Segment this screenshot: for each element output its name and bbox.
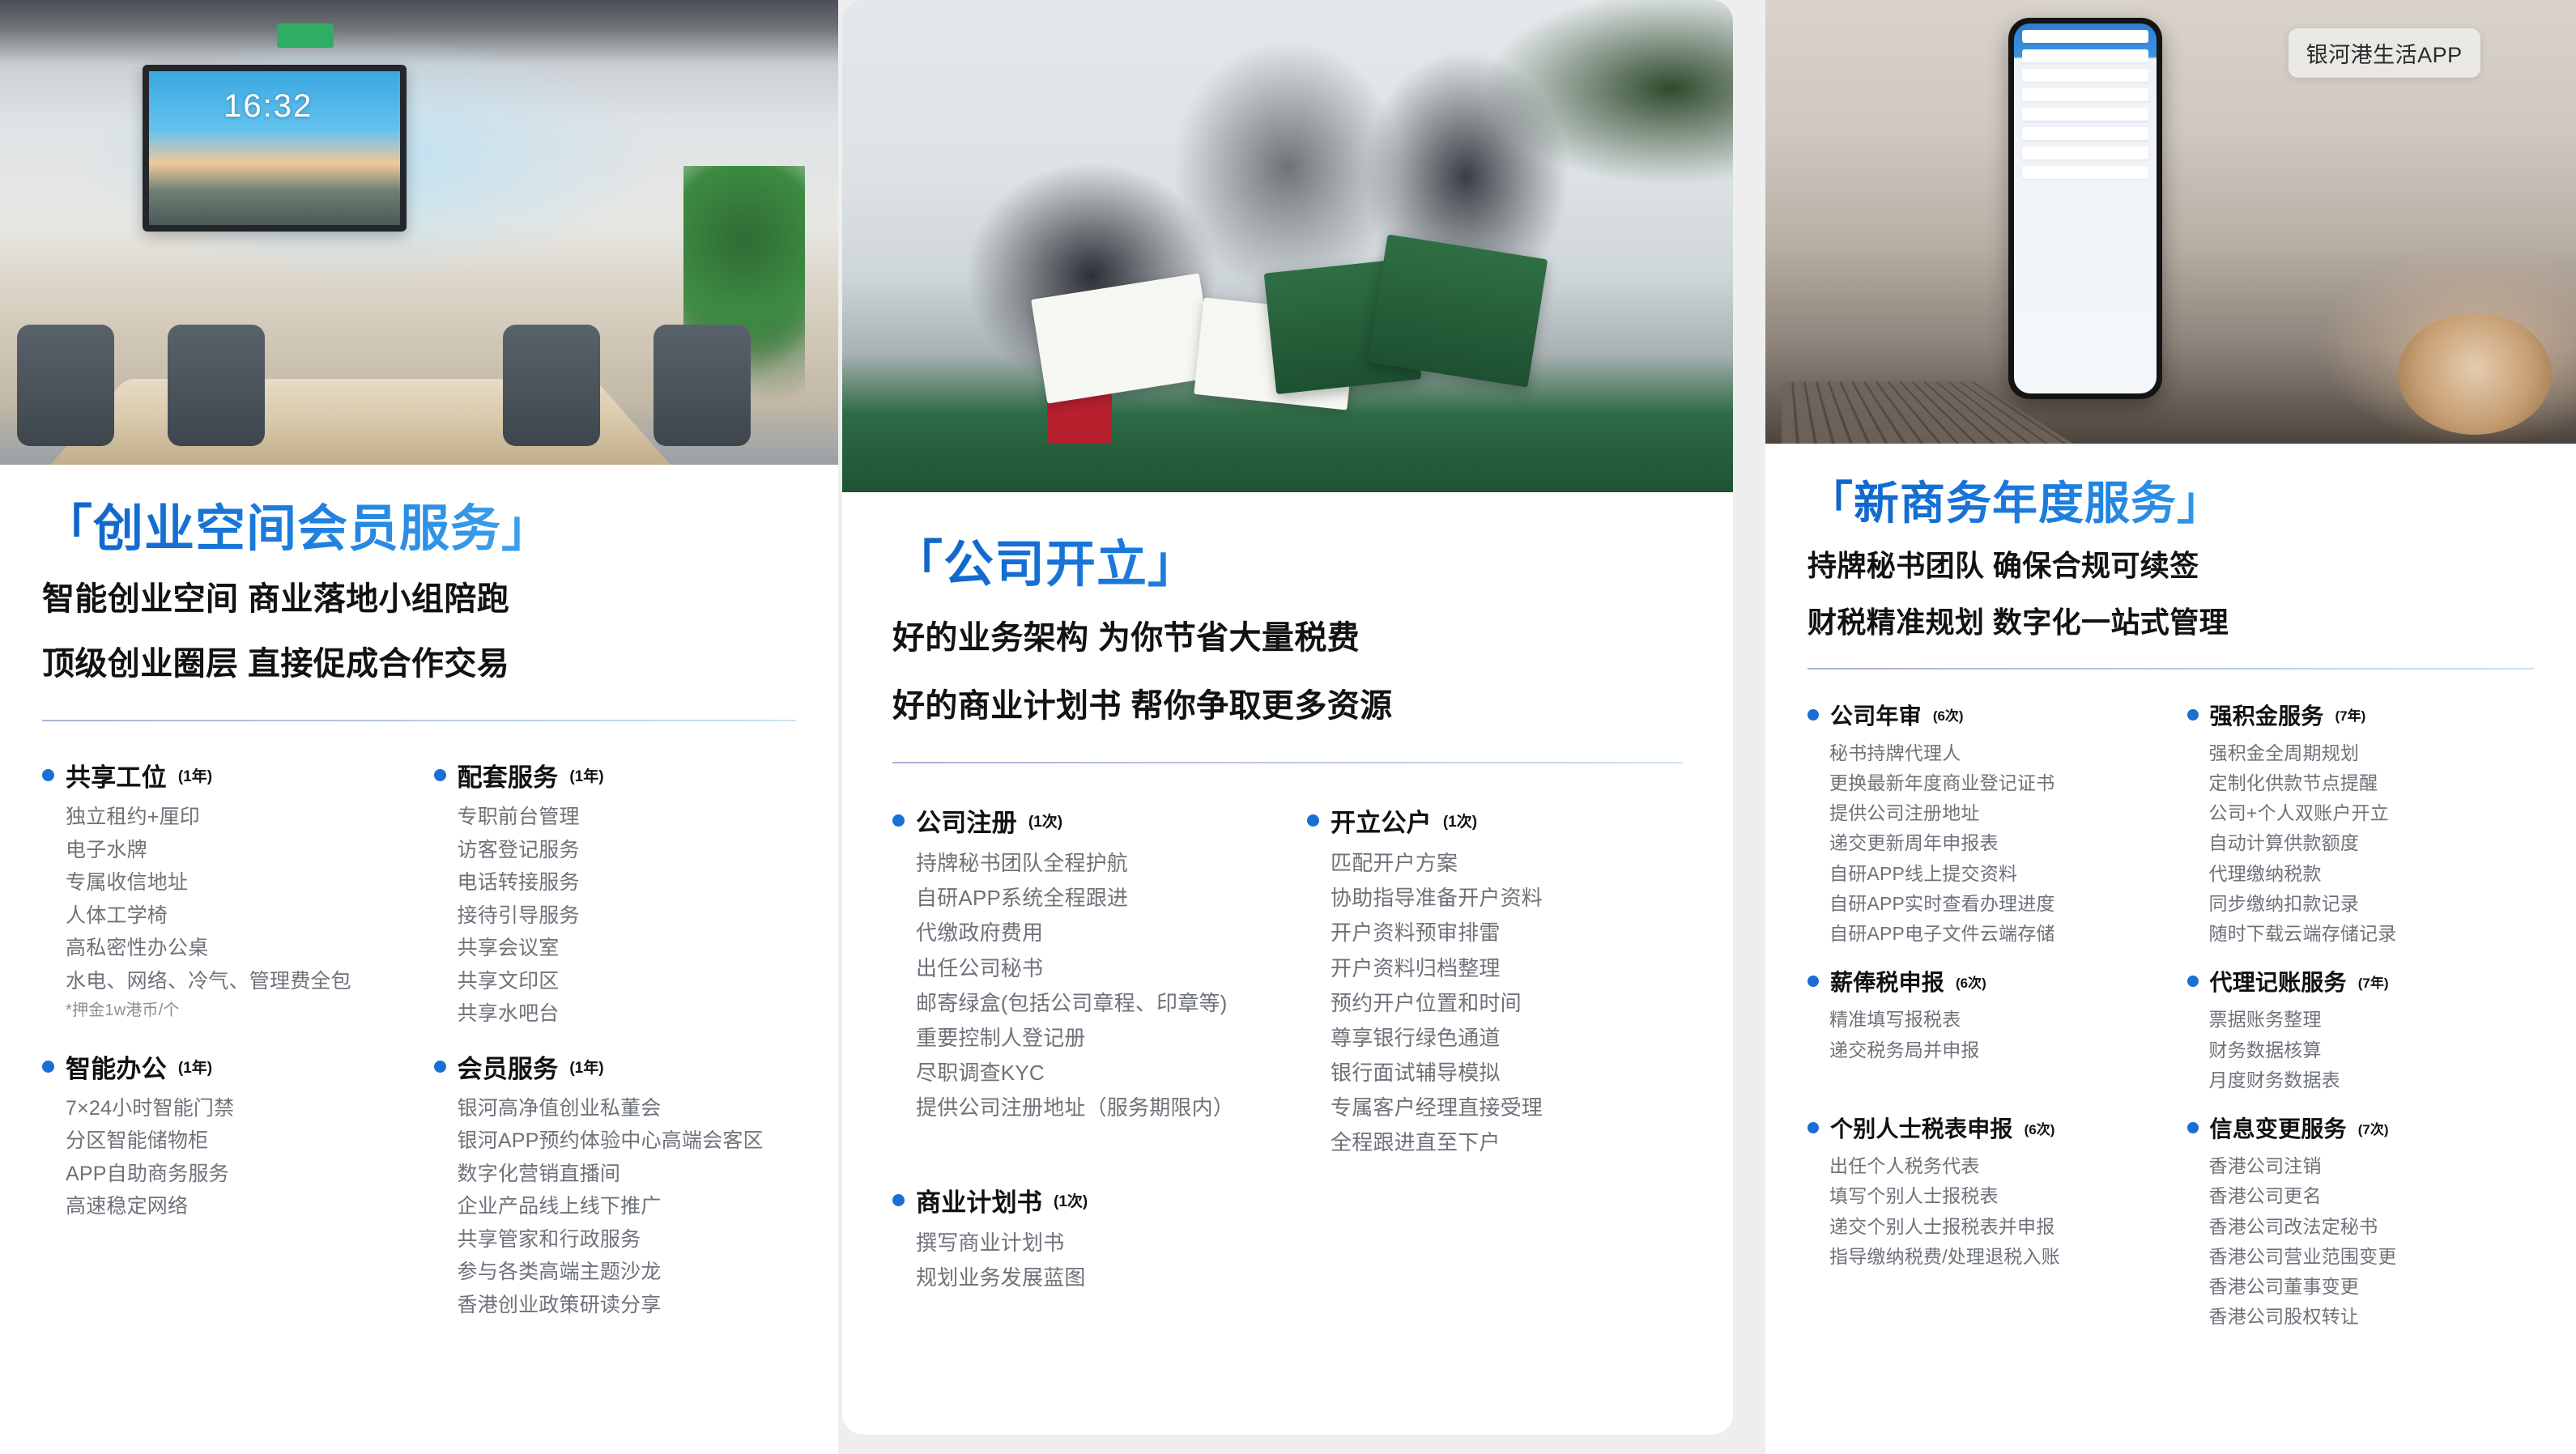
service-item: 公司+个人双账户开立 [2209,798,2535,828]
service-item: 自研APP电子文件云端存储 [1829,919,2155,949]
bullet-dot-icon [1307,814,1319,827]
service-item: 高私密性办公桌 [66,932,405,965]
phone-list-row [2022,166,2148,179]
service-item: 银河APP预约体验中心高端会客区 [458,1125,797,1158]
card-title: 「公司开立」 [892,536,1683,594]
service-item: APP自助商务服务 [66,1158,405,1191]
service-group-header: 会员服务 (1年) [434,1048,797,1085]
service-item: 月度财务数据表 [2209,1065,2535,1095]
service-item-list: 强积金全周期规划 定制化供款节点提醒 公司+个人双账户开立 自动计算供款额度 代… [2187,738,2535,950]
service-item: 数字化营销直播间 [458,1158,797,1191]
bullet-dot-icon [434,1061,446,1073]
phone-screen [2014,23,2157,393]
bullet-dot-icon [2187,1122,2199,1133]
service-group-quantity: (7次) [2358,1118,2389,1138]
card-body: 「创业空间会员服务」 智能创业空间 商业落地小组陪跑 顶级创业圈层 直接促成合作… [0,500,838,1321]
service-item-list: 撰写商业计划书 规划业务发展蓝图 [892,1226,1268,1295]
service-item: 香港公司更名 [2209,1181,2535,1211]
service-group-title: 信息变更服务 [2210,1112,2347,1144]
service-group: 开立公户 (1次) 匹配开户方案 协助指导准备开户资料 开户资料预审排雷 开户资… [1307,802,1683,1160]
service-item: 精准填写报税表 [1829,1005,2155,1035]
team-reviewing-documents-photo [842,0,1733,492]
service-item: 银河高净值创业私董会 [458,1092,797,1125]
bullet-dot-icon [1807,709,1819,721]
service-item: 自研APP线上提交资料 [1829,859,2155,889]
card-body: 「新商务年度服务」 持牌秘书团队 确保合规可续签 财税精准规划 数字化一站式管理… [1765,478,2576,1333]
service-group-quantity: (1年) [178,1056,212,1078]
service-group: 共享工位 (1年) 独立租约+厘印 电子水牌 专属收信地址 人体工学椅 高私密性… [42,757,405,1031]
service-group-header: 开立公户 (1次) [1307,802,1683,839]
service-group-header: 公司年审 (6次) [1807,699,2155,731]
service-group-title: 个别人士税表申报 [1830,1112,2013,1144]
service-item: 财务数据核算 [2209,1035,2535,1065]
service-group-title: 公司注册 [916,802,1017,839]
service-item: 提供公司注册地址（服务期限内） [916,1090,1268,1125]
service-group-header: 共享工位 (1年) [42,757,405,793]
service-item: 香港公司改法定秘书 [2209,1212,2535,1242]
office-chair [503,325,600,446]
service-item: 撰写商业计划书 [916,1226,1268,1261]
service-item: 专属收信地址 [66,866,405,899]
phone-list-row [2022,88,2148,101]
phone-list-row [2022,49,2148,62]
service-item: 填写个别人士报税表 [1829,1181,2155,1211]
service-item-list: 7×24小时智能门禁 分区智能储物柜 APP自助商务服务 高速稳定网络 [42,1092,405,1223]
service-item: 尊享银行绿色通道 [1331,1021,1683,1056]
service-item: 电话转接服务 [458,866,797,899]
phone-list-row [2022,108,2148,121]
service-item: 水电、网络、冷气、管理费全包 [66,965,405,998]
service-item-list: 独立租约+厘印 电子水牌 专属收信地址 人体工学椅 高私密性办公桌 水电、网络、… [42,801,405,1023]
service-item: 票据账务整理 [2209,1005,2535,1035]
service-item: 重要控制人登记册 [916,1021,1268,1056]
service-group-quantity: (1年) [178,764,212,786]
service-group-header: 个别人士税表申报 (6次) [1807,1112,2155,1144]
hand-holding-phone-photo: 银河港生活APP [1765,0,2576,444]
service-item: 开户资料预审排雷 [1331,916,1683,950]
bullet-dot-icon [42,769,54,781]
service-group-quantity: (1年) [569,764,603,786]
coffee-cup-decor [2398,313,2552,435]
service-item: 持牌秘书团队全程护航 [916,846,1268,881]
service-item: 协助指导准备开户资料 [1331,881,1683,916]
service-item: 自研APP系统全程跟进 [916,881,1268,916]
service-item: 自动计算供款额度 [2209,828,2535,858]
divider [892,762,1683,763]
service-item: 邮寄绿盒(包括公司章程、印章等) [916,986,1268,1021]
service-group-header: 配套服务 (1年) [434,757,797,793]
service-item-list: 票据账务整理 财务数据核算 月度财务数据表 [2187,1005,2535,1095]
service-item: 共享管家和行政服务 [458,1223,797,1256]
service-group-title: 开立公户 [1331,802,1432,839]
service-item: 企业产品线上线下推广 [458,1190,797,1223]
service-item: 预约开户位置和时间 [1331,986,1683,1021]
card-subtitle-line-1: 智能创业空间 商业落地小组陪跑 [42,576,796,623]
promo-board: 16:32 「创业空间会员服务」 智能创业空间 商业落地小组陪跑 顶级创业圈层 … [0,0,2576,1454]
service-item-list: 精准填写报税表 递交税务局并申报 [1807,1005,2155,1065]
service-item: 提供公司注册地址 [1829,798,2155,828]
service-item-list: 专职前台管理 访客登记服务 电话转接服务 接待引导服务 共享会议室 共享文印区 … [434,801,797,1031]
card-subtitle-line-2: 顶级创业圈层 直接促成合作交易 [42,641,796,688]
service-item-list: 匹配开户方案 协助指导准备开户资料 开户资料预审排雷 开户资料归档整理 预约开户… [1307,846,1683,1160]
service-group: 个别人士税表申报 (6次) 出任个人税务代表 填写个别人士报税表 递交个别人士报… [1807,1112,2155,1333]
service-groups: 公司注册 (1次) 持牌秘书团队全程护航 自研APP系统全程跟进 代缴政府费用 … [892,802,1683,1295]
service-item-list: 出任个人税务代表 填写个别人士报税表 递交个别人士报税表并申报 指导缴纳税费/处… [1807,1151,2155,1272]
service-item: 高速稳定网络 [66,1190,405,1223]
service-item: 定制化供款节点提醒 [2209,768,2535,798]
service-group: 强积金服务 (7年) 强积金全周期规划 定制化供款节点提醒 公司+个人双账户开立… [2187,699,2535,950]
service-group-header: 智能办公 (1年) [42,1048,405,1085]
paper-document [1031,273,1216,403]
service-item-list: 香港公司注销 香港公司更名 香港公司改法定秘书 香港公司营业范围变更 香港公司董… [2187,1151,2535,1333]
service-group-header: 信息变更服务 (7次) [2187,1112,2535,1144]
service-group-quantity: (6次) [1956,971,1986,992]
service-item: 更换最新年度商业登记证书 [1829,768,2155,798]
card-subtitle-line-1: 好的业务架构 为你节省大量税费 [892,615,1683,662]
service-group: 信息变更服务 (7次) 香港公司注销 香港公司更名 香港公司改法定秘书 香港公司… [2187,1112,2535,1333]
card-subtitle-line-1: 持牌秘书团队 确保合规可续签 [1807,545,2534,587]
service-group-title: 强积金服务 [2210,699,2324,731]
service-group-quantity: (1年) [569,1056,603,1078]
service-item: 规划业务发展蓝图 [916,1261,1268,1295]
bullet-dot-icon [892,1194,905,1206]
service-group-header: 代理记账服务 (7年) [2187,965,2535,997]
service-item: 递交更新周年申报表 [1829,828,2155,858]
service-group-title: 共享工位 [66,757,167,793]
service-item: 同步缴纳扣款记录 [2209,889,2535,919]
smartphone-mockup [2008,18,2162,399]
bullet-dot-icon [434,769,446,781]
service-item: 参与各类高端主题沙龙 [458,1256,797,1289]
service-groups: 公司年审 (6次) 秘书持牌代理人 更换最新年度商业登记证书 提供公司注册地址 … [1807,699,2534,1333]
divider [1807,668,2534,670]
service-item: 尽职调查KYC [916,1056,1268,1090]
service-item: 人体工学椅 [66,899,405,933]
service-group-quantity: (1次) [1054,1189,1088,1211]
service-item: 香港公司董事变更 [2209,1272,2535,1302]
service-item: 香港公司股权转让 [2209,1302,2535,1332]
service-group-quantity: (1次) [1028,810,1062,831]
service-card-annual-service: 银河港生活APP 「新商务年度服务」 持牌秘书团队 确保合规可续签 财税精准规划… [1765,0,2576,1454]
bullet-dot-icon [1807,1122,1819,1133]
service-groups: 共享工位 (1年) 独立租约+厘印 电子水牌 专属收信地址 人体工学椅 高私密性… [42,757,796,1321]
card-title: 「新商务年度服务」 [1807,478,2534,530]
display-clock-time: 16:32 [143,88,394,125]
service-group-quantity: (7年) [2335,704,2366,725]
service-group-quantity: (6次) [2025,1118,2055,1138]
service-group-title: 商业计划书 [916,1182,1042,1218]
service-item-list: 银河高净值创业私董会 银河APP预约体验中心高端会客区 数字化营销直播间 企业产… [434,1092,797,1322]
service-group: 智能办公 (1年) 7×24小时智能门禁 分区智能储物柜 APP自助商务服务 高… [42,1048,405,1322]
card-title: 「创业空间会员服务」 [42,500,796,559]
service-group-header: 公司注册 (1次) [892,802,1268,839]
bullet-dot-icon [42,1061,54,1073]
bullet-dot-icon [892,814,905,827]
service-item: 香港创业政策研读分享 [458,1289,797,1322]
service-card-membership: 16:32 「创业空间会员服务」 智能创业空间 商业落地小组陪跑 顶级创业圈层 … [0,0,838,1454]
service-item: 独立租约+厘印 [66,801,405,834]
service-item: 共享文印区 [458,965,797,998]
exit-sign-icon [277,23,334,48]
service-item: 递交个别人士报税表并申报 [1829,1212,2155,1242]
card-hero-image-phone: 银河港生活APP [1765,0,2576,444]
service-group-quantity: (7年) [2358,971,2389,992]
service-group: 公司注册 (1次) 持牌秘书团队全程护航 自研APP系统全程跟进 代缴政府费用 … [892,802,1268,1160]
bullet-dot-icon [2187,976,2199,987]
service-group-header: 商业计划书 (1次) [892,1182,1268,1218]
bullet-dot-icon [2187,709,2199,721]
service-item: 全程跟进直至下户 [1331,1125,1683,1160]
service-item: 出任公司秘书 [916,951,1268,986]
service-item: 指导缴纳税费/处理退税入账 [1829,1242,2155,1272]
service-item: 代缴政府费用 [916,916,1268,950]
service-group-title: 公司年审 [1830,699,1922,731]
phone-list-row [2022,127,2148,140]
service-group: 公司年审 (6次) 秘书持牌代理人 更换最新年度商业登记证书 提供公司注册地址 … [1807,699,2155,950]
service-item: 专职前台管理 [458,801,797,834]
service-item: 专属客户经理直接受理 [1331,1090,1683,1125]
service-item: 随时下载云端存储记录 [2209,919,2535,949]
service-item: 访客登记服务 [458,834,797,867]
service-item: 匹配开户方案 [1331,846,1683,881]
service-group-quantity: (6次) [1933,704,1964,725]
card-body: 「公司开立」 好的业务架构 为你节省大量税费 好的商业计划书 帮你争取更多资源 … [842,536,1733,1295]
card-subtitle-line-2: 财税精准规划 数字化一站式管理 [1807,602,2534,644]
office-chair [168,325,265,446]
service-group-title: 薪俸税申报 [1830,965,1944,997]
service-group: 薪俸税申报 (6次) 精准填写报税表 递交税务局并申报 [1807,965,2155,1095]
service-item: 递交税务局并申报 [1829,1035,2155,1065]
service-card-company-setup: 「公司开立」 好的业务架构 为你节省大量税费 好的商业计划书 帮你争取更多资源 … [842,0,1733,1435]
card-subtitle-line-2: 好的商业计划书 帮你争取更多资源 [892,683,1683,730]
service-item: 香港公司注销 [2209,1151,2535,1181]
service-item: 电子水牌 [66,834,405,867]
service-group-title: 代理记账服务 [2210,965,2347,997]
office-meeting-room-photo: 16:32 [0,0,838,465]
service-item: 香港公司营业范围变更 [2209,1242,2535,1272]
service-group-quantity: (1次) [1443,810,1477,831]
service-item-note: *押金1w港币/个 [66,997,405,1023]
card-hero-image-team [842,0,1733,492]
card-hero-image-office: 16:32 [0,0,838,465]
service-item: 秘书持牌代理人 [1829,738,2155,768]
service-group: 代理记账服务 (7年) 票据账务整理 财务数据核算 月度财务数据表 [2187,965,2535,1095]
service-group: 会员服务 (1年) 银河高净值创业私董会 银河APP预约体验中心高端会客区 数字… [434,1048,797,1322]
phone-list-row [2022,147,2148,159]
service-group-title: 配套服务 [458,757,559,793]
service-item-list: 秘书持牌代理人 更换最新年度商业登记证书 提供公司注册地址 递交更新周年申报表 … [1807,738,2155,950]
phone-list-row [2022,30,2148,43]
service-group-title: 会员服务 [458,1048,559,1085]
app-name-badge: 银河港生活APP [2289,28,2480,78]
phone-list-row [2022,69,2148,82]
service-item-list: 持牌秘书团队全程护航 自研APP系统全程跟进 代缴政府费用 出任公司秘书 邮寄绿… [892,846,1268,1125]
office-chair [654,325,751,446]
service-item: 开户资料归档整理 [1331,951,1683,986]
service-group-header: 薪俸税申报 (6次) [1807,965,2155,997]
service-group: 商业计划书 (1次) 撰写商业计划书 规划业务发展蓝图 [892,1182,1268,1295]
service-item: 接待引导服务 [458,899,797,933]
service-item: 共享会议室 [458,932,797,965]
service-item: 出任个人税务代表 [1829,1151,2155,1181]
service-item: 分区智能储物柜 [66,1125,405,1158]
service-item: 7×24小时智能门禁 [66,1092,405,1125]
bullet-dot-icon [1807,976,1819,987]
office-chair [17,325,114,446]
service-group-title: 智能办公 [66,1048,167,1085]
divider [42,720,796,721]
service-group-header: 强积金服务 (7年) [2187,699,2535,731]
service-item: 自研APP实时查看办理进度 [1829,889,2155,919]
service-group: 配套服务 (1年) 专职前台管理 访客登记服务 电话转接服务 接待引导服务 共享… [434,757,797,1031]
service-item: 强积金全周期规划 [2209,738,2535,768]
service-item: 共享水吧台 [458,997,797,1031]
service-item: 银行面试辅导模拟 [1331,1056,1683,1090]
green-folder [1368,234,1548,387]
service-item: 代理缴纳税款 [2209,859,2535,889]
